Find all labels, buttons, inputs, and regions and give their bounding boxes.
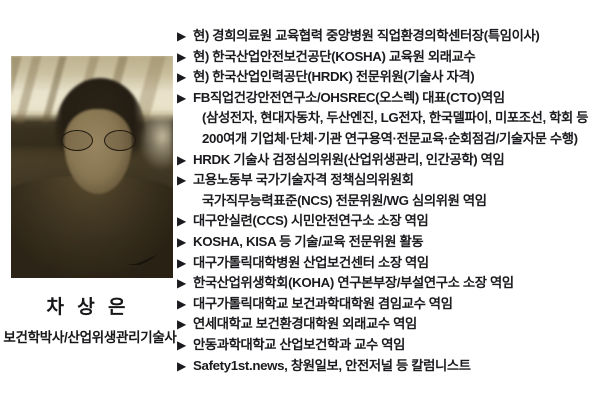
triangle-bullet-icon: ▶ <box>177 26 186 47</box>
triangle-bullet-icon: ▶ <box>177 335 186 356</box>
career-item: ▶KOSHA, KISA 등 기술/교육 전문위원 활동 <box>176 232 600 253</box>
career-item: ▶대구가톨릭대학병원 산업보건센터 소장 역임 <box>176 253 600 274</box>
career-item-label: HRDK 기술사 검정심의위원(산업위생관리, 인간공학) 역임 <box>193 152 504 167</box>
career-item-label: Safety1st.news, 창원일보, 안전저널 등 칼럼니스트 <box>193 358 471 373</box>
career-item-label: 한국산업위생학회(KOHA) 연구본부장/부설연구소 소장 역임 <box>193 275 514 290</box>
triangle-bullet-icon: ▶ <box>177 47 186 68</box>
career-item-label: 대구가톨릭대학교 보건과학대학원 겸임교수 역임 <box>193 296 453 311</box>
triangle-bullet-icon: ▶ <box>177 150 186 171</box>
career-item-label: 현) 경희의료원 교육협력 중앙병원 직업환경의학센터장(특임이사) <box>193 28 539 43</box>
career-item-label: FB직업건강안전연구소/OHSREC(오스렉) 대표(CTO)역임 <box>193 90 505 105</box>
triangle-bullet-icon: ▶ <box>177 67 186 88</box>
career-item: ▶FB직업건강안전연구소/OHSREC(오스렉) 대표(CTO)역임 <box>176 88 600 109</box>
triangle-bullet-icon: ▶ <box>177 314 186 335</box>
career-item-label: 연세대학교 보건환경대학원 외래교수 역임 <box>193 316 417 331</box>
career-item: ▶현) 한국산업안전보건공단(KOSHA) 교육원 외래교수 <box>176 47 600 68</box>
career-item-label: 국가직무능력표준(NCS) 전문위원/WG 심의위원 역임 <box>202 193 487 208</box>
photo-grain-overlay <box>11 56 173 278</box>
career-item: ▶Safety1st.news, 창원일보, 안전저널 등 칼럼니스트 <box>176 356 600 377</box>
career-item: ▶HRDK 기술사 검정심의위원(산업위생관리, 인간공학) 역임 <box>176 150 600 171</box>
profile-credentials: 보건학박사/산업위생관리기술사 <box>0 326 180 346</box>
triangle-bullet-icon: ▶ <box>177 170 186 191</box>
profile-column: 차 상 은 보건학박사/산업위생관리기술사 <box>0 0 176 400</box>
career-item: ▶연세대학교 보건환경대학원 외래교수 역임 <box>176 314 600 335</box>
triangle-bullet-icon: ▶ <box>177 273 186 294</box>
profile-slide: 차 상 은 보건학박사/산업위생관리기술사 ▶현) 경희의료원 교육협력 중앙병… <box>0 0 600 400</box>
triangle-bullet-icon: ▶ <box>177 211 186 232</box>
career-item: ▶안동과학대학교 산업보건학과 교수 역임 <box>176 335 600 356</box>
career-item: ▶현) 한국산업인력공단(HRDK) 전문위원(기술사 자격) <box>176 67 600 88</box>
triangle-bullet-icon: ▶ <box>177 88 186 109</box>
profile-photo <box>11 56 173 278</box>
career-item-label: KOSHA, KISA 등 기술/교육 전문위원 활동 <box>193 234 423 249</box>
career-item-label: 안동과학대학교 산업보건학과 교수 역임 <box>193 337 405 352</box>
career-subline: ▶(삼성전자, 현대자동차, 두산엔진, LG전자, 한국델파이, 미포조선, … <box>176 108 600 129</box>
career-item-label: 대구가톨릭대학병원 산업보건센터 소장 역임 <box>193 255 429 270</box>
career-item-label: 대구안실련(CCS) 시민안전연구소 소장 역임 <box>193 213 428 228</box>
career-list: ▶현) 경희의료원 교육협력 중앙병원 직업환경의학센터장(특임이사)▶현) 한… <box>176 26 600 376</box>
career-item-label: 200여개 기업체·단체·기관 연구용역·전문교육·순회점검/기술자문 수행) <box>202 131 578 146</box>
career-item: ▶고용노동부 국가기술자격 정책심의위원회 <box>176 170 600 191</box>
career-item: ▶한국산업위생학회(KOHA) 연구본부장/부설연구소 소장 역임 <box>176 273 600 294</box>
profile-name: 차 상 은 <box>0 292 176 319</box>
career-subline: ▶국가직무능력표준(NCS) 전문위원/WG 심의위원 역임 <box>176 191 600 212</box>
career-item: ▶대구안실련(CCS) 시민안전연구소 소장 역임 <box>176 211 600 232</box>
career-item-label: 고용노동부 국가기술자격 정책심의위원회 <box>193 172 414 187</box>
career-item: ▶현) 경희의료원 교육협력 중앙병원 직업환경의학센터장(특임이사) <box>176 26 600 47</box>
career-item: ▶대구가톨릭대학교 보건과학대학원 겸임교수 역임 <box>176 294 600 315</box>
triangle-bullet-icon: ▶ <box>177 356 186 377</box>
career-item-label: 현) 한국산업안전보건공단(KOSHA) 교육원 외래교수 <box>193 49 475 64</box>
triangle-bullet-icon: ▶ <box>177 253 186 274</box>
career-item-label: 현) 한국산업인력공단(HRDK) 전문위원(기술사 자격) <box>193 69 474 84</box>
career-item-label: (삼성전자, 현대자동차, 두산엔진, LG전자, 한국델파이, 미포조선, 학… <box>202 110 588 125</box>
triangle-bullet-icon: ▶ <box>177 294 186 315</box>
career-subline: ▶200여개 기업체·단체·기관 연구용역·전문교육·순회점검/기술자문 수행) <box>176 129 600 150</box>
triangle-bullet-icon: ▶ <box>177 232 186 253</box>
